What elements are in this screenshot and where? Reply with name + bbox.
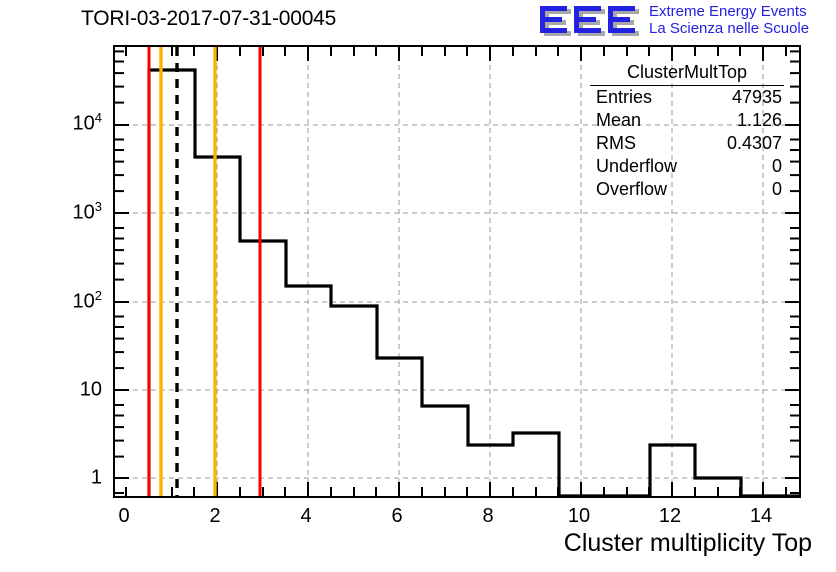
stats-row-underflow: Underflow 0	[590, 155, 784, 178]
stats-value-entries: 47935	[732, 87, 782, 108]
stats-key-rms: RMS	[596, 133, 636, 154]
stats-value-underflow: 0	[772, 156, 782, 177]
x-tick-label-10: 10	[568, 505, 590, 528]
stats-value-mean: 1.126	[737, 110, 782, 131]
stats-row-mean: Mean 1.126	[590, 109, 784, 132]
stats-key-entries: Entries	[596, 87, 652, 108]
x-axis-title: Cluster multiplicity Top	[564, 529, 812, 558]
stats-row-overflow: Overflow 0	[590, 178, 784, 201]
stats-row-rms: RMS 0.4307	[590, 132, 784, 155]
y-tick-label-100: 102	[40, 291, 102, 314]
root-canvas: TORI-03-2017-07-31-00045	[0, 0, 836, 572]
marker-lines	[149, 47, 260, 496]
stats-value-rms: 0.4307	[727, 133, 782, 154]
x-tick-label-4: 4	[300, 505, 311, 528]
x-tick-label-14: 14	[750, 505, 772, 528]
stats-row-entries: Entries 47935	[590, 86, 784, 109]
stats-key-underflow: Underflow	[596, 156, 677, 177]
stats-key-mean: Mean	[596, 110, 641, 131]
stats-value-overflow: 0	[772, 179, 782, 200]
eee-logo-mark-icon	[537, 4, 645, 38]
x-tick-label-12: 12	[659, 505, 681, 528]
y-tick-label-1: 1	[40, 467, 102, 490]
stats-key-overflow: Overflow	[596, 179, 667, 200]
x-tick-label-6: 6	[391, 505, 402, 528]
y-tick-label-10: 10	[40, 379, 102, 402]
eee-logo-line2: La Scienza nelle Scuole	[649, 20, 809, 37]
x-tick-label-0: 0	[118, 505, 129, 528]
x-tick-label-2: 2	[209, 505, 220, 528]
eee-logo-line1: Extreme Energy Events	[649, 3, 809, 20]
stats-title: ClusterMultTop	[590, 62, 784, 86]
page-title: TORI-03-2017-07-31-00045	[81, 7, 336, 31]
y-tick-label-10000: 104	[40, 113, 102, 136]
eee-logo-text: Extreme Energy Events La Scienza nelle S…	[649, 3, 809, 37]
y-tick-label-1000: 103	[40, 202, 102, 225]
x-tick-label-8: 8	[482, 505, 493, 528]
eee-logo: Extreme Energy Events La Scienza nelle S…	[537, 3, 833, 39]
stats-box: ClusterMultTop Entries 47935 Mean 1.126 …	[590, 62, 784, 201]
